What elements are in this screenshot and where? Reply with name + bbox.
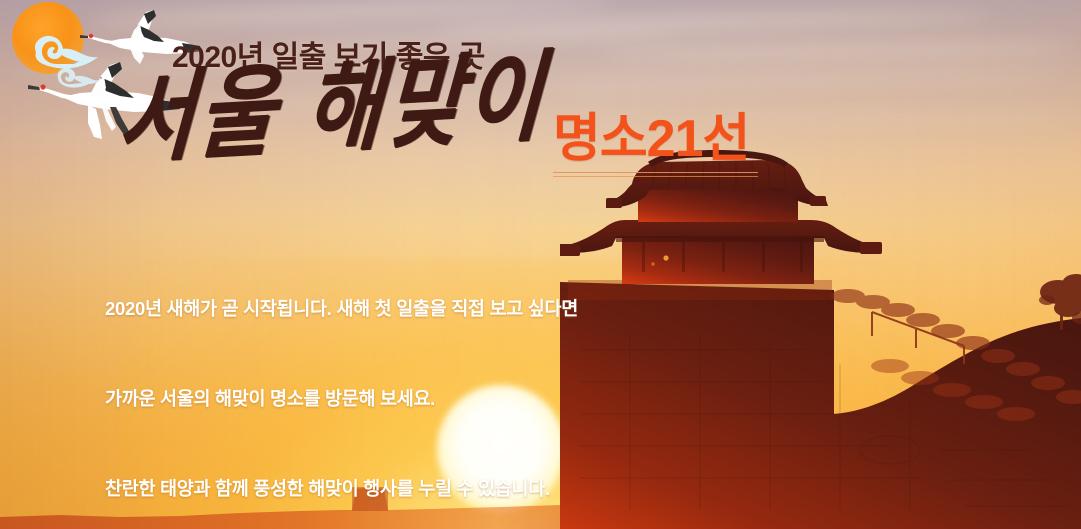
description-text: 2020년 새해가 곧 시작됩니다. 새해 첫 일출을 직접 보고 싶다면 가까…	[105, 234, 578, 529]
cloud-swirl-small-icon	[58, 68, 99, 88]
crane-crown	[40, 84, 45, 89]
highlight-count-label: 명소21선	[553, 113, 749, 165]
crane-crown	[89, 34, 93, 38]
page-title: 서울 해맞이	[115, 47, 550, 169]
title-underline	[553, 172, 758, 178]
underline-rule-top	[553, 172, 758, 173]
highlight-wrapper: 명소21선	[553, 113, 749, 165]
description-line: 가까운 서울의 해맞이 명소를 방문해 보세요.	[105, 384, 578, 414]
sunrise-promo-banner: 2020년 일출 보기 좋은 곳 서울 해맞이 명소21선 2020년 새해가 …	[0, 0, 1081, 529]
underline-rule-bottom	[553, 176, 758, 177]
description-line: 찬란한 태양과 함께 풍성한 해맞이 행사를 누릴 수 있습니다.	[105, 474, 578, 504]
fortress-gate-silhouette	[560, 150, 1081, 529]
description-line: 2020년 새해가 곧 시작됩니다. 새해 첫 일출을 직접 보고 싶다면	[105, 294, 578, 324]
